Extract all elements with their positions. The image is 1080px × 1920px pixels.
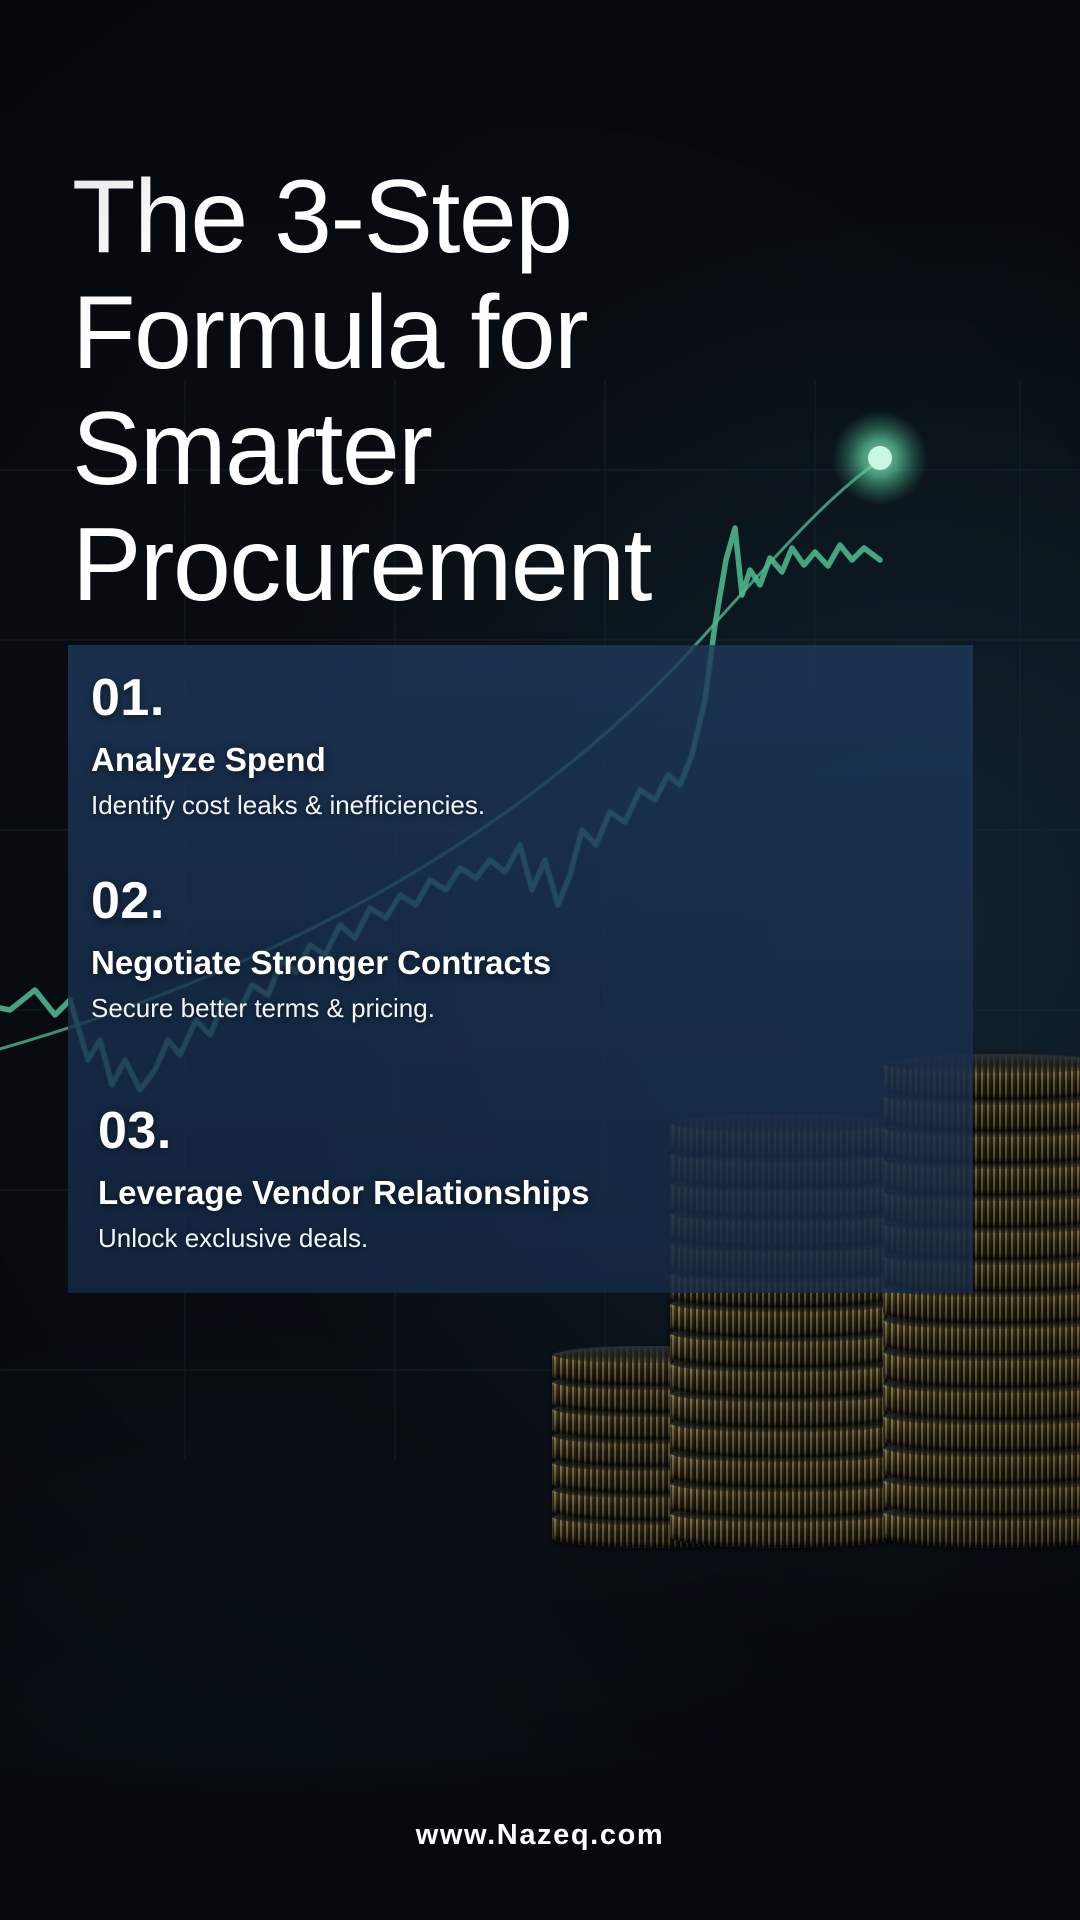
step-description: Unlock exclusive deals. — [98, 1223, 590, 1254]
step-title: Leverage Vendor Relationships — [98, 1174, 590, 1212]
headline-line-4: Procurement — [72, 508, 772, 624]
footer-bar: www.Nazeq.com — [0, 1750, 1080, 1920]
website-url[interactable]: www.Nazeq.com — [416, 1819, 665, 1852]
step-item-01: 01. Analyze Spend Identify cost leaks & … — [91, 672, 485, 821]
headline-line-3: Smarter — [72, 392, 772, 508]
step-title: Analyze Spend — [91, 741, 485, 779]
step-description: Identify cost leaks & inefficiencies. — [91, 790, 485, 821]
step-title: Negotiate Stronger Contracts — [91, 944, 551, 982]
step-description: Secure better terms & pricing. — [91, 993, 551, 1024]
headline-line-1: The 3-Step — [72, 160, 772, 276]
headline-line-2: Formula for — [72, 276, 772, 392]
step-number: 02. — [91, 875, 551, 927]
step-item-03: 03. Leverage Vendor Relationships Unlock… — [98, 1105, 590, 1254]
step-number: 03. — [98, 1105, 590, 1157]
step-item-02: 02. Negotiate Stronger Contracts Secure … — [91, 875, 551, 1024]
steps-card: 01. Analyze Spend Identify cost leaks & … — [68, 645, 973, 1293]
glow-dot-core — [868, 446, 892, 470]
poster-canvas: The 3-Step Formula for Smarter Procureme… — [0, 0, 1080, 1920]
step-number: 01. — [91, 672, 485, 724]
page-title: The 3-Step Formula for Smarter Procureme… — [72, 160, 772, 624]
